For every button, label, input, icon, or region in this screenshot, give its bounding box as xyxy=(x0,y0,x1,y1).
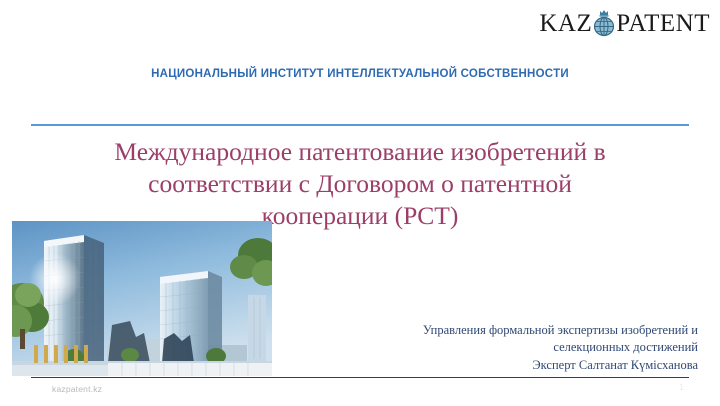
logo-text-patent: PATENT xyxy=(616,11,710,36)
presenter-department-line-2: селекционных достижений xyxy=(368,339,698,356)
footer-divider xyxy=(31,377,689,378)
kazpatent-logo: KAZ PATENT xyxy=(539,6,710,40)
footer-website: kazpatent.kz xyxy=(52,384,102,394)
presenter-name: Эксперт Салтанат Күмісханова xyxy=(368,357,698,374)
title-line-2: соответствии с Договором о патентной xyxy=(70,168,650,200)
globe-crown-emblem-icon xyxy=(591,9,617,39)
building-photo xyxy=(12,221,272,376)
header-divider xyxy=(31,124,689,126)
institute-heading: НАЦИОНАЛЬНЫЙ ИНСТИТУТ ИНТЕЛЛЕКТУАЛЬНОЙ С… xyxy=(0,68,720,80)
page-number: 1 xyxy=(679,382,684,392)
page-title: Международное патентование изобретений в… xyxy=(70,136,650,232)
logo-text-kaz: KAZ xyxy=(539,11,592,36)
presenter-info: Управления формальной экспертизы изобрет… xyxy=(368,322,698,374)
title-line-1: Международное патентование изобретений в xyxy=(70,136,650,168)
presenter-department-line-1: Управления формальной экспертизы изобрет… xyxy=(368,322,698,339)
presentation-slide: KAZ PATENT НАЦИОНАЛЬНЫЙ ИНСТИТУТ ИНТЕЛЛЕ… xyxy=(0,0,720,406)
